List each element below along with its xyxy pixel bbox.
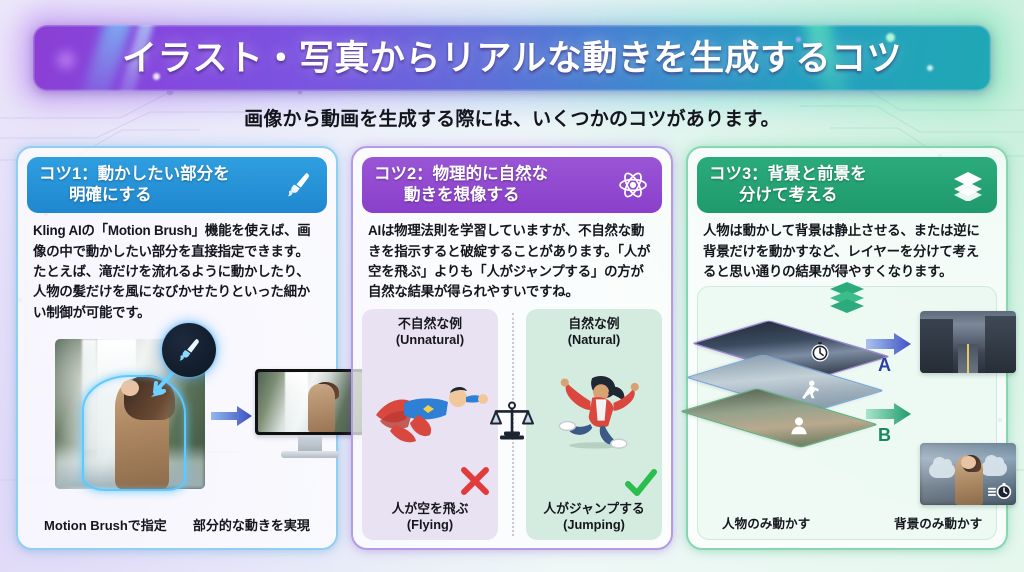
- caption-partial-motion: 部分的な動きを実現: [193, 515, 310, 534]
- page-subtitle: 画像から動画を生成する際には、いくつかのコツがあります。: [0, 104, 1024, 131]
- person-silhouette-icon: [788, 415, 810, 437]
- panel-natural-caption-ja: 人がジャンプする: [543, 501, 644, 516]
- flow-arrow-a-icon: [866, 333, 912, 355]
- card-kotsu1: コツ1：動かしたい部分を 明確にする Kling AIの「Motion Brus…: [16, 146, 338, 550]
- panel-natural-title-ja: 自然な例: [568, 316, 619, 331]
- page-title: イラスト・写真からリアルな動きを生成するコツ: [122, 41, 902, 76]
- stopwatch-icon: [809, 341, 831, 363]
- card-kotsu3-header: コツ3：背景と前景を 分けて考える: [697, 157, 997, 213]
- card-kotsu3-title-line1: コツ3：背景と前景を: [709, 165, 867, 183]
- card-kotsu2-title-line1: コツ2：物理的に自然な: [374, 165, 548, 183]
- card-kotsu2-header: コツ2：物理的に自然な 動きを想像する: [362, 157, 662, 213]
- panel-natural-title-en: (Natural): [568, 332, 621, 347]
- panel-unnatural-title-ja: 不自然な例: [398, 316, 462, 331]
- monitor-base: [281, 451, 339, 458]
- panel-natural-caption-en: (Jumping): [563, 517, 625, 532]
- card-kotsu2-comparison: 不自然な例 (Unnatural): [362, 309, 662, 540]
- card-kotsu2-body: AIは物理法則を学習していますが、不自然な動きを指示すると破綻することがあります…: [362, 213, 662, 305]
- result-thumb-b: [920, 443, 1016, 505]
- flow-label-b: B: [878, 425, 891, 446]
- paint-brush-icon: [281, 168, 315, 202]
- layers-stack-icon: [828, 281, 866, 313]
- panel-natural-title: 自然な例 (Natural): [526, 316, 662, 348]
- panel-unnatural-caption-en: (Flying): [407, 517, 453, 532]
- caption-move-person-only: 人物のみ動かす: [722, 513, 810, 532]
- brush-badge-icon: [162, 323, 216, 377]
- card-kotsu2-title: コツ2：物理的に自然な 動きを想像する: [374, 164, 548, 206]
- header-banner: イラスト・写真からリアルな動きを生成するコツ: [33, 25, 991, 91]
- tips-card-row: コツ1：動かしたい部分を 明確にする Kling AIの「Motion Brus…: [16, 146, 1008, 550]
- panel-natural-caption: 人がジャンプする (Jumping): [526, 501, 662, 533]
- card-kotsu1-captions: Motion Brushで指定 部分的な動きを実現: [27, 515, 327, 540]
- infographic-canvas: イラスト・写真からリアルな動きを生成するコツ 画像から動画を生成する際には、いく…: [0, 0, 1024, 572]
- panel-natural: 自然な例 (Natural): [526, 309, 662, 540]
- panel-unnatural-title-en: (Unnatural): [396, 332, 464, 347]
- flow-arrow-icon: [211, 405, 253, 427]
- layer-stack-visual: [712, 317, 862, 442]
- flow-label-a: A: [878, 355, 891, 376]
- card-kotsu2: コツ2：物理的に自然な 動きを想像する AIは物理法則を学習していますが、不自然…: [351, 146, 673, 550]
- flow-arrow-b-icon: [866, 403, 912, 425]
- check-mark-icon: [624, 466, 658, 500]
- result-thumb-a: [920, 311, 1016, 373]
- motion-stopwatch-icon: [988, 481, 1012, 501]
- comparison-divider: [498, 309, 526, 540]
- card-kotsu3-body: 人物は動かして背景は静止させる、または逆に背景だけを動かすなど、レイヤーを分けて…: [697, 213, 997, 284]
- panel-unnatural: 不自然な例 (Unnatural): [362, 309, 498, 540]
- panel-unnatural-title: 不自然な例 (Unnatural): [362, 316, 498, 348]
- caption-move-background-only: 背景のみ動かす: [894, 513, 982, 532]
- atom-icon: [616, 168, 650, 202]
- balance-scale-icon: [490, 399, 534, 443]
- flying-superhero-illustration: [370, 371, 490, 449]
- card-kotsu3-title-line2: 分けて考える: [709, 185, 867, 206]
- panel-unnatural-caption: 人が空を飛ぶ (Flying): [362, 501, 498, 533]
- card-kotsu1-body: Kling AIの「Motion Brush」機能を使えば、画像の中で動かしたい…: [27, 213, 327, 325]
- jumping-person-illustration: [534, 371, 654, 449]
- cross-mark-icon: [458, 464, 492, 498]
- card-kotsu1-header: コツ1：動かしたい部分を 明確にする: [27, 157, 327, 213]
- card-kotsu1-illustration: [27, 327, 327, 515]
- monitor-preview: [255, 369, 365, 465]
- card-kotsu3-illustration: A B: [697, 286, 997, 540]
- card-kotsu2-title-line2: 動きを想像する: [374, 185, 548, 206]
- card-kotsu1-title: コツ1：動かしたい部分を 明確にする: [39, 164, 230, 206]
- clock-icon: [992, 349, 1012, 369]
- monitor-screen: [255, 369, 365, 435]
- card-kotsu3-title: コツ3：背景と前景を 分けて考える: [709, 164, 867, 206]
- layers-icon: [951, 168, 985, 202]
- card-kotsu1-title-line2: 明確にする: [39, 185, 230, 206]
- panel-unnatural-caption-ja: 人が空を飛ぶ: [392, 501, 469, 516]
- caption-motion-brush: Motion Brushで指定: [44, 515, 167, 534]
- running-person-icon: [798, 379, 820, 401]
- banner-bar: イラスト・写真からリアルな動きを生成するコツ: [33, 25, 991, 91]
- card-kotsu1-title-line1: コツ1：動かしたい部分を: [39, 165, 230, 183]
- card-kotsu3: コツ3：背景と前景を 分けて考える 人物は動かして背景は静止させる、または逆に背…: [686, 146, 1008, 550]
- monitor-stand: [298, 435, 322, 451]
